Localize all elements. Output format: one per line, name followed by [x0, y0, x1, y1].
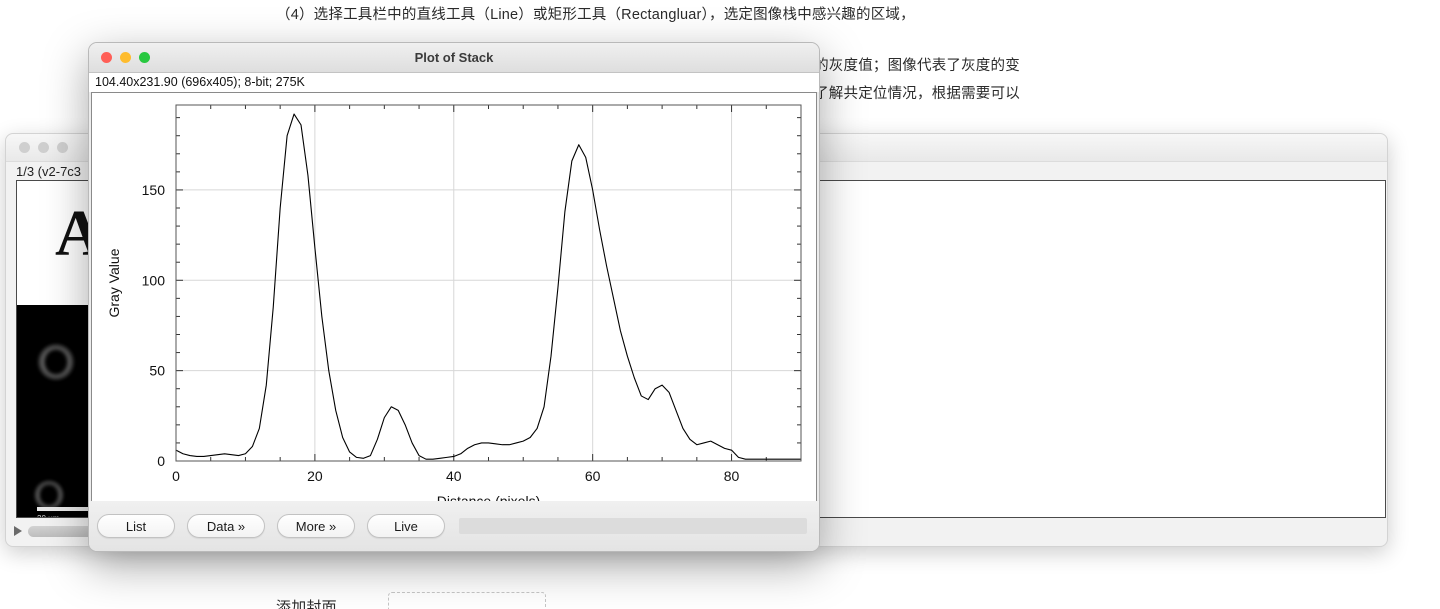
- plot-frame: [176, 105, 801, 461]
- plot-canvas[interactable]: 020406080050100150 Distance (pixels) Gra…: [91, 92, 817, 522]
- svg-text:0: 0: [172, 468, 180, 484]
- scroll-right-arrow-icon[interactable]: [14, 526, 22, 536]
- more-button[interactable]: More »: [277, 514, 355, 538]
- svg-text:100: 100: [142, 272, 166, 288]
- maximize-icon[interactable]: [57, 142, 68, 153]
- y-axis-label: Gray Value: [106, 248, 122, 317]
- data-button[interactable]: Data »: [187, 514, 265, 538]
- list-button[interactable]: List: [97, 514, 175, 538]
- svg-text:150: 150: [142, 182, 166, 198]
- svg-text:0: 0: [157, 453, 165, 469]
- minimize-icon[interactable]: [38, 142, 49, 153]
- add-cover-label: 添加封面: [276, 596, 337, 609]
- plot-button-bar: List Data » More » Live: [89, 501, 819, 551]
- background-window-traffic-lights[interactable]: [19, 142, 68, 153]
- plot-tick-labels: 020406080050100150: [142, 182, 740, 484]
- svg-text:80: 80: [724, 468, 740, 484]
- plot-status-line: 104.40x231.90 (696x405); 8-bit; 275K: [89, 73, 819, 92]
- cell-blob: [29, 335, 83, 389]
- plot-ticks: [176, 105, 801, 461]
- screen-root: （4）选择工具栏中的直线工具（Line）或矩形工具（Rectangluar），选…: [0, 0, 1440, 609]
- plot-window-title: Plot of Stack: [89, 50, 819, 65]
- plot-slider[interactable]: [459, 518, 807, 534]
- profile-line: [176, 114, 801, 459]
- scale-bar-label: 20 μm: [37, 514, 59, 518]
- svg-text:40: 40: [446, 468, 462, 484]
- svg-text:50: 50: [149, 363, 165, 379]
- add-cover-dropzone[interactable]: [388, 592, 546, 609]
- plot-window-titlebar[interactable]: Plot of Stack: [89, 43, 819, 73]
- live-button[interactable]: Live: [367, 514, 445, 538]
- plot-of-stack-window[interactable]: Plot of Stack 104.40x231.90 (696x405); 8…: [88, 42, 820, 552]
- close-icon[interactable]: [19, 142, 30, 153]
- svg-text:20: 20: [307, 468, 323, 484]
- profile-plot-svg: 020406080050100150 Distance (pixels) Gra…: [92, 93, 818, 521]
- document-line-1: （4）选择工具栏中的直线工具（Line）或矩形工具（Rectangluar），选…: [276, 3, 915, 24]
- plot-gridlines: [176, 105, 801, 461]
- svg-text:60: 60: [585, 468, 601, 484]
